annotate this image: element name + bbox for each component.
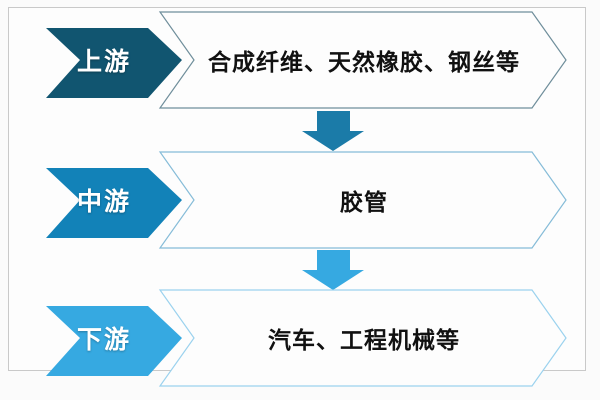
upstream-content-chevron <box>160 12 566 108</box>
midstream-label-chevron <box>46 168 182 238</box>
upstream-label-chevron <box>46 28 182 98</box>
downstream-content-chevron <box>160 290 566 386</box>
upstream-row-shapes <box>0 6 600 114</box>
midstream-row-shapes <box>0 146 600 254</box>
diagram-canvas: 上游 合成纤维、天然橡胶、钢丝等 中游 胶管 下游 汽车、工程机械等 <box>0 0 600 400</box>
downstream-label-chevron <box>46 306 182 376</box>
chain-row-upstream: 上游 合成纤维、天然橡胶、钢丝等 <box>0 6 600 114</box>
chain-row-midstream: 中游 胶管 <box>0 146 600 254</box>
downstream-row-shapes <box>0 284 600 392</box>
midstream-content-chevron <box>160 152 566 248</box>
chain-row-downstream: 下游 汽车、工程机械等 <box>0 284 600 392</box>
